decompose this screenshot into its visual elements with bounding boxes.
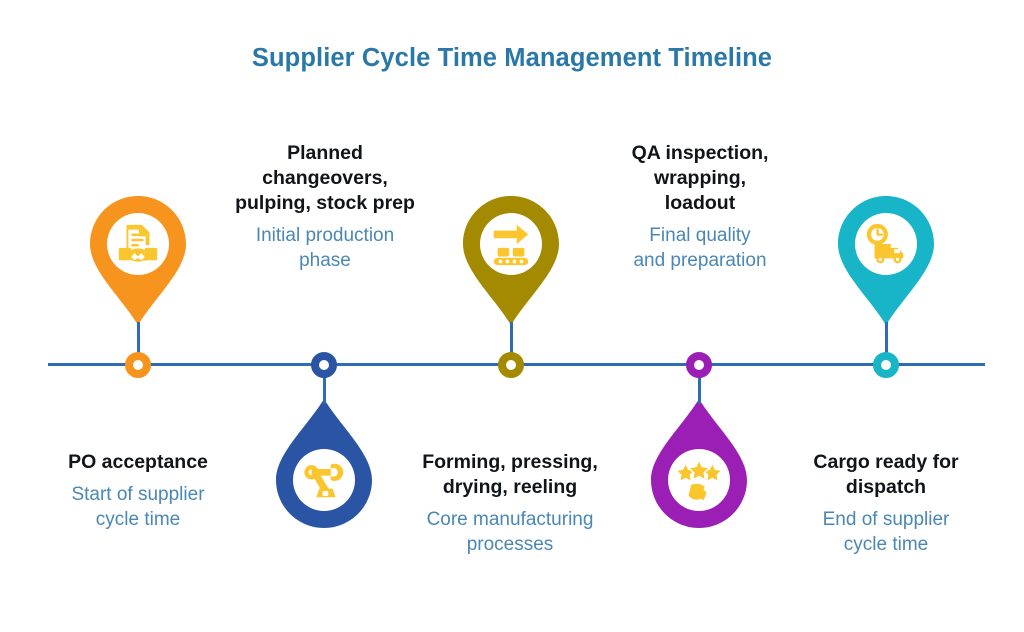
conveyor-arrow-icon bbox=[485, 218, 537, 270]
milestone-label-planned-changeovers: Planned changeovers, pulping, stock prep… bbox=[203, 141, 447, 273]
milestone-subtitle: End of supplier cycle time bbox=[768, 507, 1004, 557]
milestone-label-po-acceptance: PO acceptance Start of supplier cycle ti… bbox=[18, 450, 258, 532]
axis-node-forming-pressing[interactable] bbox=[498, 352, 524, 378]
clock-truck-icon bbox=[860, 218, 912, 270]
stars-thumbsup-icon bbox=[673, 454, 725, 506]
document-handshake-icon bbox=[112, 218, 164, 270]
milestone-title: PO acceptance bbox=[18, 450, 258, 475]
robot-arm-icon bbox=[298, 454, 350, 506]
axis-node-qa-inspection[interactable] bbox=[686, 352, 712, 378]
milestone-pin-po-acceptance[interactable] bbox=[90, 196, 186, 328]
milestone-subtitle: Start of supplier cycle time bbox=[18, 482, 258, 532]
milestone-title: Forming, pressing, drying, reeling bbox=[390, 450, 630, 500]
milestone-subtitle: Core manufacturing processes bbox=[390, 507, 630, 557]
timeline-infographic: Supplier Cycle Time Management Timeline bbox=[0, 0, 1024, 632]
milestone-label-cargo-ready: Cargo ready for dispatch End of supplier… bbox=[768, 450, 1004, 557]
milestone-pin-qa-inspection[interactable] bbox=[651, 398, 747, 530]
page-title: Supplier Cycle Time Management Timeline bbox=[0, 44, 1024, 73]
milestone-title: QA inspection, wrapping, loadout bbox=[588, 141, 812, 216]
milestone-pin-forming-pressing[interactable] bbox=[463, 196, 559, 328]
milestone-pin-planned-changeovers[interactable] bbox=[276, 398, 372, 530]
milestone-pin-cargo-ready[interactable] bbox=[838, 196, 934, 328]
milestone-subtitle: Final quality and preparation bbox=[588, 223, 812, 273]
milestone-label-qa-inspection: QA inspection, wrapping, loadout Final q… bbox=[588, 141, 812, 273]
axis-node-planned-changeovers[interactable] bbox=[311, 352, 337, 378]
milestone-title: Cargo ready for dispatch bbox=[768, 450, 1004, 500]
axis-node-po-acceptance[interactable] bbox=[125, 352, 151, 378]
milestone-title: Planned changeovers, pulping, stock prep bbox=[203, 141, 447, 216]
milestone-label-forming-pressing: Forming, pressing, drying, reeling Core … bbox=[390, 450, 630, 557]
axis-node-cargo-ready[interactable] bbox=[873, 352, 899, 378]
milestone-subtitle: Initial production phase bbox=[203, 223, 447, 273]
